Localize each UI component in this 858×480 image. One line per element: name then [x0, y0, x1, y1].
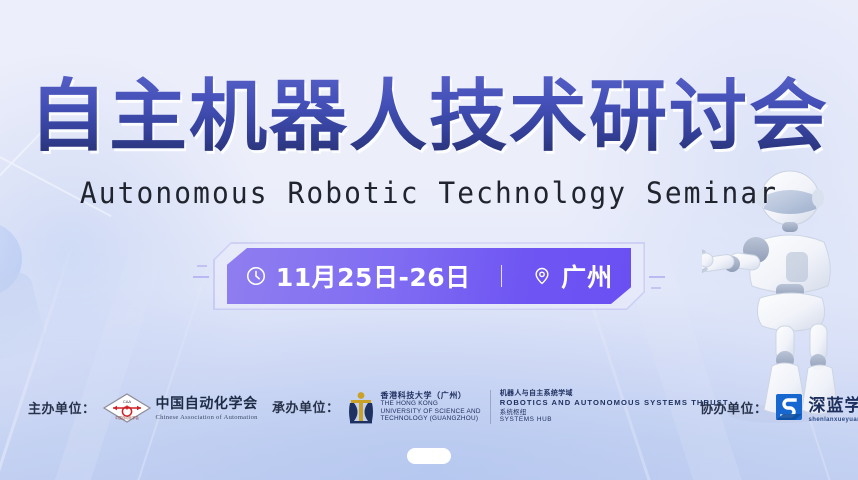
event-info-banner-wrap: 11月25日-26日 广州 — [0, 248, 858, 304]
robotics-thrust-block: 机器人与自主系统学域 ROBOTICS AND AUTONOMOUS SYSTE… — [500, 389, 729, 425]
hkust-name-en-3: TECHNOLOGY (GUANGZHOU) — [381, 415, 481, 423]
shenlan-logo-block: 深蓝学院 shenlanxueyuan.com — [775, 391, 858, 423]
caa-name-en: Chinese Association of Automation — [156, 414, 258, 421]
home-indicator-pill[interactable] — [407, 448, 451, 464]
thrust-en-2: SYSTEMS HUB — [500, 416, 729, 424]
banner-separator — [501, 265, 503, 287]
sponsor-group-cohost: 协办单位： 深蓝学院 shenlanxueyuan.com — [700, 391, 858, 423]
thrust-zh-1: 机器人与自主系统学域 — [500, 389, 729, 398]
page-title-english: Autonomous Robotic Technology Seminar — [17, 176, 841, 210]
shenlan-name-zh: 深蓝学院 — [809, 391, 858, 416]
host-label: 主办单位： — [28, 398, 96, 417]
sponsor-row: 主办单位： CAA 中国自动化学会 中国自动化学会 Chinese Associ… — [0, 378, 858, 436]
clock-icon — [245, 265, 267, 287]
hkust-name-zh: 香港科技大学（广州） — [381, 391, 481, 400]
event-info-banner: 11月25日-26日 广州 — [227, 248, 631, 304]
poster-canvas: 自主机器人技术研讨会 Autonomous Robotic Technology… — [0, 0, 858, 480]
hkust-gz-logo-icon — [346, 390, 376, 424]
caa-name-block: 中国自动化学会 Chinese Association of Automatio… — [156, 393, 258, 421]
thrust-en-1: ROBOTICS AND AUTONOMOUS SYSTEMS THRUST — [500, 398, 729, 408]
shenlan-name-en: shenlanxueyuan.com — [809, 417, 858, 423]
sponsor-group-host: 主办单位： CAA 中国自动化学会 中国自动化学会 Chinese Associ… — [28, 392, 258, 422]
caa-name-zh: 中国自动化学会 — [156, 393, 258, 413]
banner-tick-left-small — [197, 265, 207, 267]
organizer-label: 承办单位： — [272, 397, 340, 416]
banner-tick-right — [649, 276, 665, 278]
event-city: 广州 — [561, 258, 613, 294]
banner-tick-left — [193, 276, 209, 278]
banner-tick-right-small — [651, 287, 661, 289]
cohost-label: 协办单位： — [700, 398, 768, 417]
location-pin-icon — [532, 265, 552, 287]
sponsor-group-organizer: 承办单位： 香港科技大学（广州） THE HONG KONG UNIV — [272, 389, 729, 425]
svg-text:中国自动化学会: 中国自动化学会 — [115, 415, 139, 420]
shenlan-s-logo-icon — [775, 393, 803, 421]
hkust-name-en-2: UNIVERSITY OF SCIENCE AND — [381, 408, 481, 416]
caa-diamond-logo-icon: CAA 中国自动化学会 — [102, 392, 152, 422]
organizer-divider — [490, 390, 491, 424]
svg-text:CAA: CAA — [122, 399, 131, 404]
thrust-zh-2: 系统枢纽 — [500, 408, 729, 416]
page-title-chinese: 自主机器人技术研讨会 — [0, 74, 858, 160]
hkust-gz-logo-block: 香港科技大学（广州） THE HONG KONG UNIVERSITY OF S… — [346, 390, 481, 424]
event-date: 11月25日-26日 — [276, 258, 471, 294]
hkust-name-en-1: THE HONG KONG — [381, 400, 481, 408]
